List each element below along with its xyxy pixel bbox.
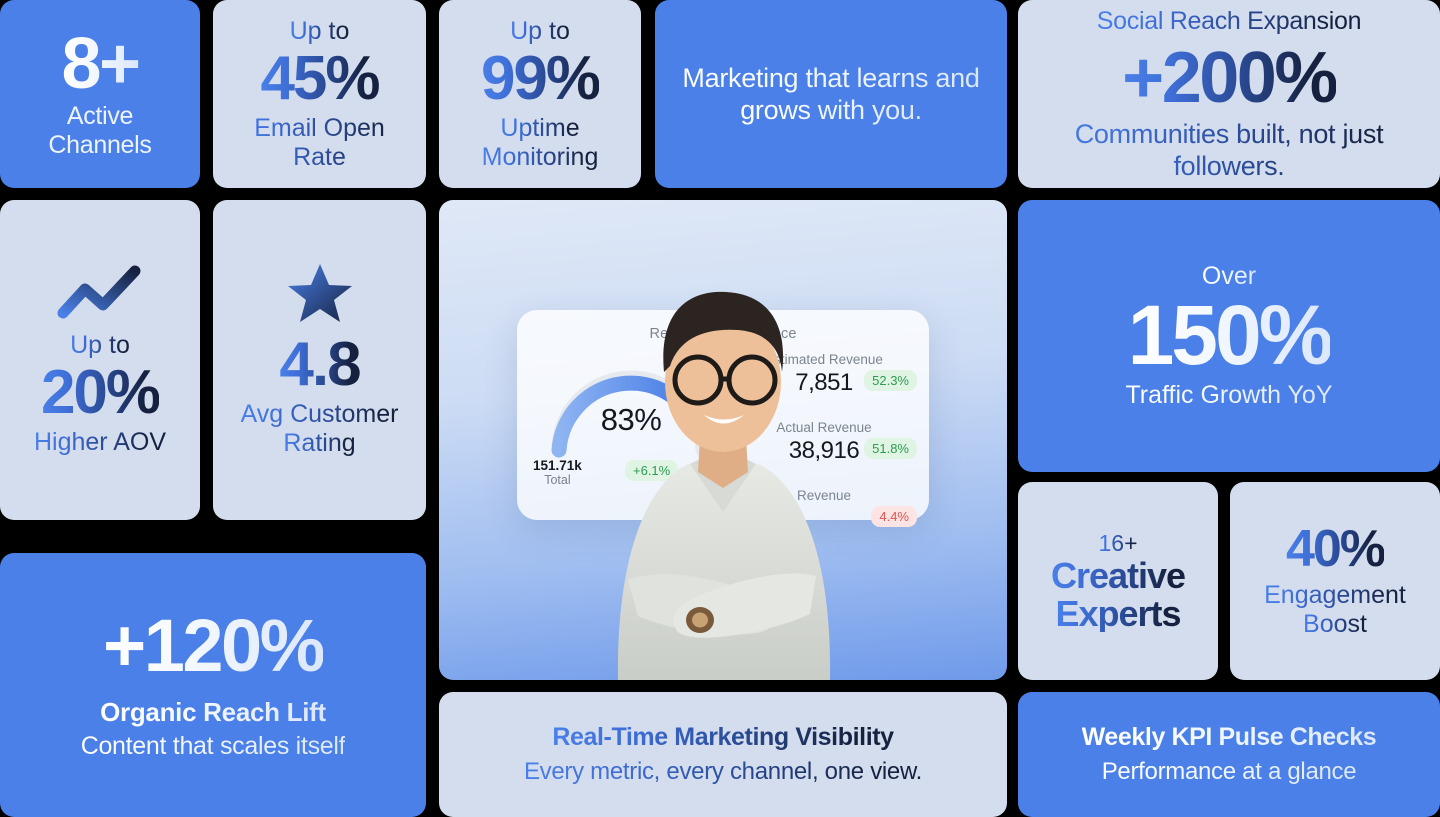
card-realtime-visibility[interactable]: Real-Time Marketing Visibility Every met…	[439, 692, 1007, 817]
creative-line2: Experts	[1055, 595, 1180, 633]
traffic-value: 150%	[1128, 293, 1331, 377]
weekly-subtitle: Performance at a glance	[1102, 758, 1357, 786]
marketing-tagline-line2: grows with you.	[740, 94, 922, 126]
card-creative-experts[interactable]: 16+ Creative Experts	[1018, 482, 1218, 680]
bento-grid: 8+ Active Channels Up to 45% Email Open …	[0, 0, 1440, 817]
uptime-prefix: Up to	[510, 17, 570, 46]
card-engagement-boost[interactable]: 40% Engagement Boost	[1230, 482, 1440, 680]
hero-person-image	[558, 250, 888, 680]
card-marketing-tagline[interactable]: Marketing that learns and grows with you…	[655, 0, 1007, 188]
card-organic-reach[interactable]: +120% Organic Reach Lift Content that sc…	[0, 553, 426, 817]
social-reach-title: Social Reach Expansion	[1097, 6, 1361, 36]
organic-label: Organic Reach Lift	[100, 697, 326, 728]
email-prefix: Up to	[290, 17, 350, 46]
engagement-value: 40%	[1286, 523, 1384, 575]
organic-subtitle: Content that scales itself	[81, 732, 346, 761]
traffic-prefix: Over	[1202, 262, 1256, 291]
aov-label: Higher AOV	[34, 428, 166, 457]
realtime-title: Real-Time Marketing Visibility	[552, 723, 893, 752]
weekly-title: Weekly KPI Pulse Checks	[1082, 723, 1377, 752]
card-social-reach[interactable]: Social Reach Expansion +200% Communities…	[1018, 0, 1440, 188]
uptime-label-line1: Uptime	[500, 114, 579, 143]
aov-value: 20%	[41, 362, 159, 424]
card-email-open-rate[interactable]: Up to 45% Email Open Rate	[213, 0, 426, 188]
social-reach-value: +200%	[1122, 42, 1336, 114]
engagement-line1: Engagement	[1264, 581, 1406, 610]
card-active-channels[interactable]: 8+ Active Channels	[0, 0, 200, 188]
rating-value: 4.8	[279, 334, 359, 396]
active-channels-value: 8+	[61, 28, 138, 100]
aov-prefix: Up to	[70, 331, 130, 360]
star-icon	[287, 262, 353, 324]
uptime-value: 99%	[481, 48, 599, 110]
marketing-tagline-line1: Marketing that learns and	[682, 62, 979, 94]
card-higher-aov[interactable]: Up to 20% Higher AOV	[0, 200, 200, 520]
organic-value: +120%	[103, 609, 323, 683]
card-uptime-monitoring[interactable]: Up to 99% Uptime Monitoring	[439, 0, 641, 188]
rating-label-line2: Rating	[283, 429, 355, 458]
card-avg-customer-rating[interactable]: 4.8 Avg Customer Rating	[213, 200, 426, 520]
card-traffic-growth[interactable]: Over 150% Traffic Growth YoY	[1018, 200, 1440, 472]
rating-label-line1: Avg Customer	[241, 400, 399, 429]
trending-up-icon	[57, 263, 143, 321]
social-reach-subtitle: Communities built, not just followers.	[1032, 118, 1426, 183]
creative-count: 16+	[1098, 530, 1137, 557]
creative-line1: Creative	[1051, 557, 1185, 595]
uptime-label-line2: Monitoring	[482, 143, 599, 172]
card-weekly-kpi[interactable]: Weekly KPI Pulse Checks Performance at a…	[1018, 692, 1440, 817]
hero-stage: Revenue Performance 83% 151.71k Total +6…	[439, 200, 1007, 680]
realtime-subtitle: Every metric, every channel, one view.	[524, 758, 922, 786]
active-channels-label: Active Channels	[14, 102, 186, 160]
traffic-label: Traffic Growth YoY	[1125, 381, 1332, 410]
email-label: Email Open Rate	[227, 114, 412, 172]
card-hero-dashboard[interactable]: Revenue Performance 83% 151.71k Total +6…	[439, 200, 1007, 680]
email-value: 45%	[260, 48, 378, 110]
engagement-line2: Boost	[1303, 610, 1367, 639]
